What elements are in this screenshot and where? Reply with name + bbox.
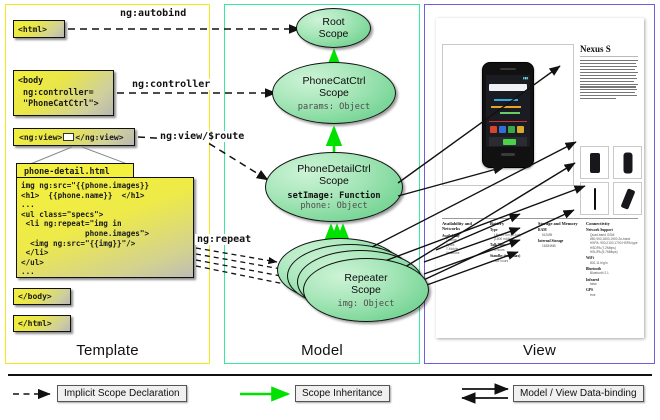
- template-note-phone-detail[interactable]: phone-detail.html img ng:src="{{phone.im…: [16, 163, 194, 278]
- scope-repeater-label: RepeaterScope: [344, 272, 387, 296]
- view-product-title: Nexus S: [580, 44, 611, 54]
- phone-content-line-3: [500, 112, 520, 114]
- legend-divider: [8, 374, 652, 376]
- ngview-close-tag: </ng:view>: [75, 133, 123, 142]
- phone-dock-button: [503, 139, 516, 145]
- spec-value: HSUPA (5.76Mbps): [586, 250, 638, 254]
- thumbnail-1[interactable]: [580, 146, 609, 179]
- code-box-ngview[interactable]: <ng:view></ng:view>: [13, 128, 135, 146]
- scope-phonecatctrl-prop-params: params: Object: [298, 102, 370, 112]
- phone-content-line-2: [491, 106, 521, 108]
- note-title: phone-detail.html: [16, 163, 134, 178]
- scope-root-label: RootScope: [319, 16, 349, 40]
- spec-value: (1500 mAh): [490, 237, 534, 241]
- view-description: [580, 60, 638, 101]
- scope-phonecatctrl[interactable]: PhoneCatCtrlScope params: Object: [272, 62, 396, 124]
- thumbnail-3[interactable]: [580, 182, 609, 215]
- edge-label-controller: ng:controller: [130, 79, 212, 90]
- spec-heading: Battery: [490, 221, 534, 226]
- spec-table-rule: [442, 218, 638, 219]
- phone-dock: [489, 137, 527, 146]
- spec-heading: Storage and Memory: [538, 221, 582, 226]
- edge-label-repeat: ng:repeat: [195, 234, 253, 245]
- phone-statusbar: ▮▮▮: [523, 76, 528, 80]
- phone-app-icon-2: [499, 126, 506, 133]
- code-box-html[interactable]: <html>: [13, 20, 65, 38]
- spec-value: Quad-band GSM: 850,900,1800,1900 Zu-band…: [586, 233, 638, 246]
- spec-value: false: [586, 282, 638, 286]
- scope-phonedetailctrl-prop-phone: phone: Object: [300, 201, 367, 211]
- spec-value: true: [586, 293, 638, 297]
- thumbnail-2[interactable]: [613, 146, 642, 179]
- phone-home-button: [501, 153, 515, 156]
- view-rendered-page: ▮▮▮ Nexus S: [436, 18, 644, 338]
- thumbnail-4[interactable]: [613, 182, 642, 215]
- ngview-slot-icon: [63, 133, 74, 141]
- legend-item-inheritance: Scope Inheritance: [295, 385, 390, 402]
- spec-heading: Connectivity: [586, 221, 638, 226]
- phone-divider: [489, 121, 527, 122]
- view-title-rule: [580, 56, 638, 57]
- phone-screen: ▮▮▮: [486, 75, 530, 147]
- code-box-close-html[interactable]: </html>: [13, 315, 71, 332]
- phone-app-icon-4: [517, 126, 524, 133]
- phone-app-icon-1: [490, 126, 497, 133]
- spec-column-battery: Battery Type Lithium Ion (Li-Ion) (1500 …: [490, 221, 534, 263]
- scope-repeater-prop-img: img: Object: [338, 299, 395, 309]
- scope-phonedetailctrl[interactable]: PhoneDetailCtrlScope setImage: Function …: [265, 152, 403, 222]
- scope-root[interactable]: RootScope: [296, 8, 371, 48]
- spec-value: 428 hours: [490, 259, 534, 263]
- scope-repeater[interactable]: RepeaterScope img: Object: [303, 258, 429, 322]
- spec-value: 802.11 b/g/n: [586, 261, 638, 265]
- note-code: img ng:src="{{phone.images}} <h1> {{phon…: [16, 177, 194, 278]
- code-box-body[interactable]: <body ng:controller= "PhoneCatCtrl">: [13, 70, 114, 116]
- spec-column-availability: Availability and Networks Availability O…: [442, 221, 486, 255]
- spec-value: 16384MB: [538, 244, 582, 248]
- spec-value: 6 hours: [490, 248, 534, 252]
- spec-column-connectivity: Connectivity Network Support Quad-band G…: [586, 221, 638, 297]
- spec-column-storage: Storage and Memory RAM 512MB Internal St…: [538, 221, 582, 248]
- column-label-template: Template: [6, 342, 209, 359]
- edge-label-autobind: ng:autobind: [118, 8, 188, 19]
- phone-speaker: [500, 68, 516, 70]
- spec-value: Vodafone: [442, 251, 486, 255]
- phone-search-widget: [489, 84, 527, 91]
- column-label-model: Model: [225, 342, 419, 359]
- legend-item-implicit: Implicit Scope Declaration: [57, 385, 187, 402]
- code-box-close-body[interactable]: </body>: [13, 288, 71, 305]
- spec-heading: Availability and Networks: [442, 221, 486, 232]
- phone-content-line-1: [494, 99, 518, 101]
- column-label-view: View: [425, 342, 654, 359]
- view-spec-table: Availability and Networks Availability O…: [442, 218, 638, 330]
- spec-value: Bluetooth 2.1: [586, 271, 638, 275]
- diagram-canvas: Template Model View: [0, 0, 660, 420]
- legend-item-databinding: Model / View Data-binding: [513, 385, 644, 402]
- spec-value: 512MB: [538, 233, 582, 237]
- hero-image-frame[interactable]: ▮▮▮: [442, 44, 574, 186]
- scope-phonedetailctrl-label: PhoneDetailCtrlScope: [297, 163, 371, 187]
- phone-app-icon-3: [508, 126, 515, 133]
- ngview-open-tag: <ng:view>: [19, 133, 62, 142]
- phone-hero-image: ▮▮▮: [482, 62, 534, 168]
- scope-phonedetailctrl-prop-setimage: setImage: Function: [287, 191, 380, 201]
- edge-label-route: ng:view/$route: [158, 131, 246, 142]
- scope-phonecatctrl-label: PhoneCatCtrlScope: [302, 75, 365, 99]
